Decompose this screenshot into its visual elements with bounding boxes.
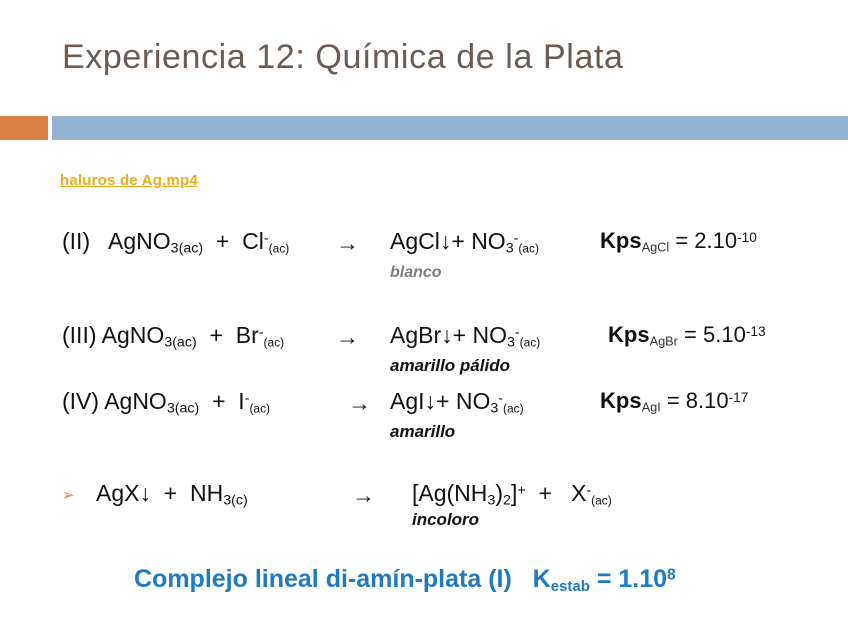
agx-label: AgX xyxy=(96,480,139,506)
equation-row-iv: (IV) AgNO3(ac) + I-(ac) → AgI↓+ NO3-(ac)… xyxy=(0,388,848,452)
kps-label: Kps xyxy=(608,322,650,347)
equation-iii-arrow: → xyxy=(336,324,359,351)
kestab-value: = 1.10 xyxy=(597,565,667,593)
kestab-subscript: estab xyxy=(551,578,590,595)
equation-ii-arrow: → xyxy=(336,230,359,257)
bottom-caption: Complejo lineal di-amín-plata (I) Kestab… xyxy=(134,565,676,595)
ammonia-subscript: 3(c) xyxy=(223,493,248,509)
kps-subscript: AgBr xyxy=(650,334,678,349)
precipitate-arrow-icon: ↓ xyxy=(441,322,453,348)
equation-iv-plus: + xyxy=(212,388,225,414)
equation-iv-product-plus: + xyxy=(436,388,449,414)
equation-iii-product-plus: + xyxy=(453,322,466,348)
equation-iii-products: AgBr↓+ NO3-(ac) xyxy=(390,322,540,351)
bullet-arrow-icon: ➢ xyxy=(62,486,75,504)
equation-iv-color-label: amarillo xyxy=(390,422,455,442)
equation-iii-reactants: (III) AgNO3(ac) + Br-(ac) xyxy=(62,322,284,351)
media-link-haluros[interactable]: haluros de Ag.mp4 xyxy=(60,172,198,189)
nitrate-state: (ac) xyxy=(503,402,524,416)
agno3-subscript: 3(ac) xyxy=(167,401,199,417)
equation-iv-precipitate: AgI xyxy=(390,388,425,414)
nitrate-state: (ac) xyxy=(518,242,539,256)
equation-ii-precipitate: AgCl xyxy=(390,228,440,254)
equation-ii-plus: + xyxy=(216,228,229,254)
complex-plus: + xyxy=(164,480,177,506)
equation-iv-reactants: (IV) AgNO3(ac) + I-(ac) xyxy=(62,388,270,417)
complex-reaction-color-label: incoloro xyxy=(412,510,479,530)
accent-bar-blue xyxy=(52,116,848,140)
complex-reaction-reactants: AgX↓ + NH3(c) xyxy=(96,480,248,509)
complex-product-plus: + xyxy=(538,480,551,506)
free-halide: X-(ac) xyxy=(571,480,612,506)
free-halide-state: (ac) xyxy=(591,494,612,508)
equation-iv-nitrate: NO3-(ac) xyxy=(456,388,524,414)
diamine-silver-complex: [Ag(NH3)2]+ xyxy=(412,480,526,506)
precipitate-arrow-icon: ↓ xyxy=(425,388,437,414)
equation-ii-kps: KpsAgCl = 2.10-10 xyxy=(600,228,757,255)
equation-ii-silver-nitrate: AgNO3(ac) xyxy=(108,228,203,254)
kps-value: = 2.10 xyxy=(675,228,737,253)
equation-ii-reactants: (II) AgNO3(ac) + Cl-(ac) xyxy=(62,228,289,257)
kps-subscript: AgI xyxy=(642,400,661,415)
equation-ii-number: (II) xyxy=(62,228,90,254)
complex-reaction-products: [Ag(NH3)2]+ + X-(ac) xyxy=(412,480,612,509)
equation-iii-plus: + xyxy=(210,322,223,348)
complex-reaction-arrow: → xyxy=(352,482,375,509)
kps-exponent: -13 xyxy=(746,324,766,339)
page-title: Experiencia 12: Química de la Plata xyxy=(62,38,624,77)
bottom-caption-text: Complejo lineal di-amín-plata (I) xyxy=(134,565,512,593)
kps-value: = 8.10 xyxy=(667,388,729,413)
kps-value: = 5.10 xyxy=(684,322,746,347)
equation-iv-number: (IV) xyxy=(62,388,99,414)
equation-iii-number: (III) xyxy=(62,322,97,348)
equation-ii-halide: Cl-(ac) xyxy=(242,228,289,254)
equation-ii-product-plus: + xyxy=(451,228,464,254)
equation-iv-products: AgI↓+ NO3-(ac) xyxy=(390,388,524,417)
equation-row-ii: (II) AgNO3(ac) + Cl-(ac) → AgCl↓+ NO3-(a… xyxy=(0,228,848,292)
halide-state: (ac) xyxy=(263,336,284,350)
agno3-subscript: 3(ac) xyxy=(164,335,196,351)
ammonia-label: NH3(c) xyxy=(190,480,248,506)
equation-iv-arrow: → xyxy=(348,390,371,417)
nitrate-state: (ac) xyxy=(520,336,541,350)
equation-iv-kps: KpsAgI = 8.10-17 xyxy=(600,388,748,415)
equation-ii-color-label: blanco xyxy=(390,264,442,282)
precipitate-arrow-icon: ↓ xyxy=(440,228,452,254)
nitrate-subscript: 3 xyxy=(507,335,515,351)
kps-label: Kps xyxy=(600,388,642,413)
precipitate-arrow-icon: ↓ xyxy=(139,480,151,506)
equation-iii-nitrate: NO3-(ac) xyxy=(472,322,540,348)
complex-subscript-2: 2 xyxy=(503,493,511,509)
equation-iii-halide: Br-(ac) xyxy=(236,322,284,348)
equation-ii-products: AgCl↓+ NO3-(ac) xyxy=(390,228,539,257)
equation-row-iii: (III) AgNO3(ac) + Br-(ac) → AgBr↓+ NO3-(… xyxy=(0,322,848,386)
kps-label: Kps xyxy=(600,228,642,253)
kestab-expression: Kestab = 1.108 xyxy=(533,565,676,593)
complex-charge: + xyxy=(517,483,525,499)
equation-iii-silver-nitrate: AgNO3(ac) xyxy=(102,322,197,348)
halide-state: (ac) xyxy=(269,242,290,256)
kps-exponent: -10 xyxy=(737,230,757,245)
nitrate-subscript: 3 xyxy=(506,241,514,257)
accent-bar-orange xyxy=(0,116,48,140)
equation-iii-color-label: amarillo pálido xyxy=(390,356,510,376)
equation-iii-precipitate: AgBr xyxy=(390,322,441,348)
kps-subscript: AgCl xyxy=(642,240,670,255)
equation-iv-silver-nitrate: AgNO3(ac) xyxy=(104,388,199,414)
kestab-exponent: 8 xyxy=(667,567,676,584)
halide-state: (ac) xyxy=(249,402,270,416)
equation-ii-nitrate: NO3-(ac) xyxy=(471,228,539,254)
agno3-subscript: 3(ac) xyxy=(171,241,203,257)
equation-iv-halide: I-(ac) xyxy=(238,388,270,414)
kps-exponent: -17 xyxy=(729,390,749,405)
complex-reaction-row: ➢ AgX↓ + NH3(c) → [Ag(NH3)2]+ + X-(ac) i… xyxy=(0,480,848,540)
equation-iii-kps: KpsAgBr = 5.10-13 xyxy=(608,322,766,349)
